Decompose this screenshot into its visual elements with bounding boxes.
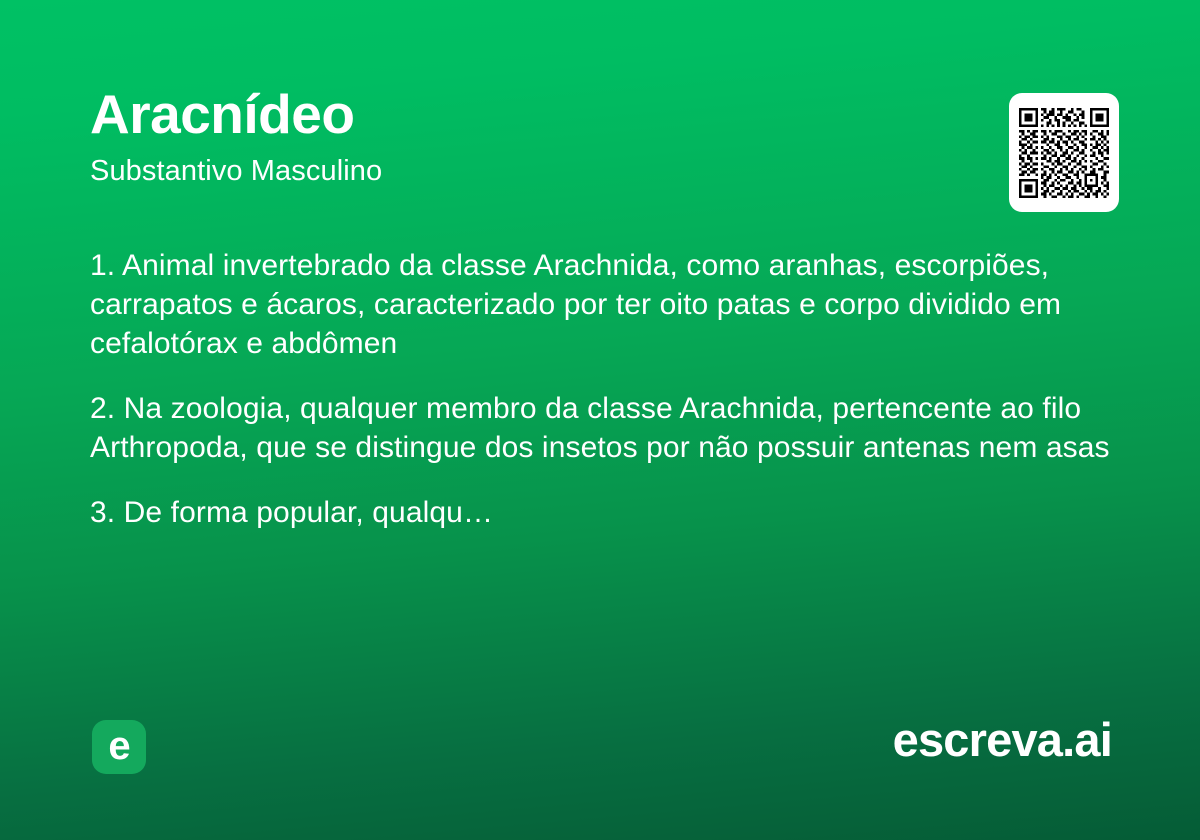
card-footer: e escreva.ai — [0, 700, 1200, 840]
escreva-logo-icon[interactable]: e — [92, 720, 146, 774]
definitions-list: 1. Animal invertebrado da classe Arachni… — [90, 246, 1110, 532]
card-header: Aracnídeo Substantivo Masculino — [90, 86, 1110, 189]
definition-card: Aracnídeo Substantivo Masculino — [0, 0, 1200, 840]
page-title: Aracnídeo — [90, 86, 1110, 144]
qr-code-icon[interactable] — [1009, 93, 1119, 212]
definition-item-1: 1. Animal invertebrado da classe Arachni… — [90, 246, 1110, 363]
brand-name: escreva.ai — [893, 712, 1112, 768]
definition-item-2: 2. Na zoologia, qualquer membro da class… — [90, 389, 1110, 467]
logo-letter: e — [108, 726, 129, 766]
definition-item-3: 3. De forma popular, qualqu… — [90, 493, 1110, 532]
word-class-label: Substantivo Masculino — [90, 154, 1110, 189]
